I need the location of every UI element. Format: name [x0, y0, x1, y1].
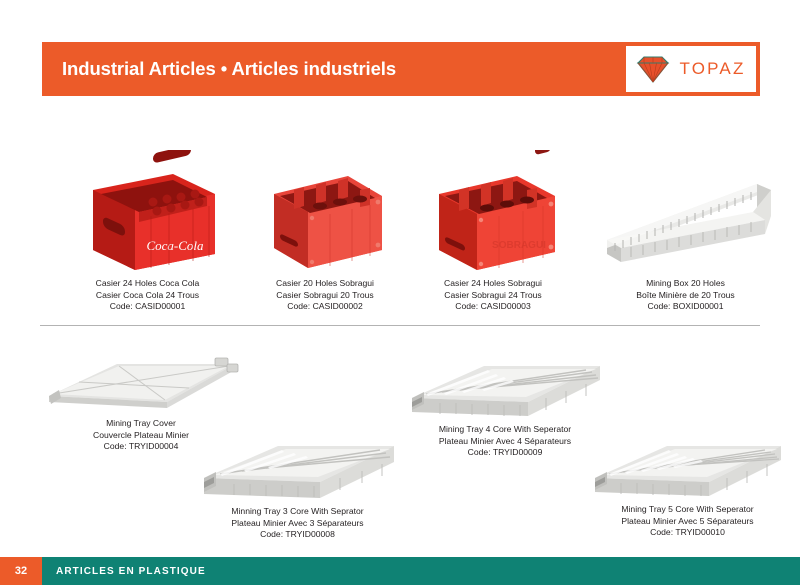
footer-section-label: ARTICLES EN PLASTIQUE: [56, 566, 206, 577]
product-name-en: Mining Tray 4 Core With Seperator: [390, 424, 620, 436]
product-name-en: Mining Tray 5 Core With Seperator: [580, 504, 795, 516]
product-name-en: Mining Box 20 Holes: [578, 278, 793, 290]
diamond-icon: [636, 55, 670, 83]
row-divider: [40, 325, 760, 326]
product-name-fr: Casier Sobragui 24 Trous: [383, 290, 603, 302]
product-name-en: Casier 24 Holes Sobragui: [383, 278, 603, 290]
product-caption: Casier 24 Holes Sobragui Casier Sobragui…: [383, 278, 603, 313]
product-image-red-crate-sobragui-20: [260, 150, 390, 278]
product-code: Code: BOXID00001: [578, 301, 793, 313]
product-name-fr: Boîte Minière de 20 Trous: [578, 290, 793, 302]
svg-text:Coca-Cola: Coca-Cola: [146, 238, 204, 253]
product-card: Mining Box 20 Holes Boîte Minière de 20 …: [578, 150, 793, 313]
product-image-grey-mining-box: [593, 150, 779, 278]
brand-name: TOPAZ: [679, 59, 745, 79]
product-name-fr: Plateau Minier Avec 5 Séparateurs: [580, 516, 795, 528]
product-caption: Mining Tray 5 Core With Seperator Platea…: [580, 504, 795, 539]
product-image-grey-tray-cover: [39, 352, 244, 418]
product-code: Code: TRYID00010: [580, 527, 795, 539]
product-caption: Mining Box 20 Holes Boîte Minière de 20 …: [578, 278, 793, 313]
svg-text:SOBRAGUI: SOBRAGUI: [492, 240, 546, 251]
page-title: Industrial Articles • Articles industrie…: [62, 58, 396, 80]
footer-section-bar: ARTICLES EN PLASTIQUE: [42, 557, 800, 585]
page-number: 32: [0, 557, 42, 585]
product-image-red-crate-sobragui-24: SOBRAGUI: [423, 150, 563, 278]
product-image-grey-tray-5-core: [585, 438, 790, 504]
page-header: Industrial Articles • Articles industrie…: [42, 42, 760, 96]
page-footer: 32 ARTICLES EN PLASTIQUE: [0, 557, 800, 585]
product-caption: Minning Tray 3 Core With Seprator Platea…: [185, 506, 410, 541]
product-code: Code: CASID00003: [383, 301, 603, 313]
product-card: SOBRAGUI Casier 24 Holes Sobragui Casier…: [383, 150, 603, 313]
product-image-grey-tray-4-core: [400, 358, 610, 424]
product-code: Code: TRYID00008: [185, 529, 410, 541]
product-image-red-crate-coca-cola: Coca-Cola: [73, 150, 223, 278]
product-card: Mining Tray 5 Core With Seperator Platea…: [580, 438, 795, 539]
product-name-fr: Plateau Minier Avec 3 Séparateurs: [185, 518, 410, 530]
product-name-en: Mining Tray Cover: [30, 418, 252, 430]
product-card: Minning Tray 3 Core With Seprator Platea…: [185, 436, 410, 541]
brand-logo: TOPAZ: [626, 46, 756, 92]
product-image-grey-tray-3-core: [190, 436, 405, 506]
product-name-en: Minning Tray 3 Core With Seprator: [185, 506, 410, 518]
